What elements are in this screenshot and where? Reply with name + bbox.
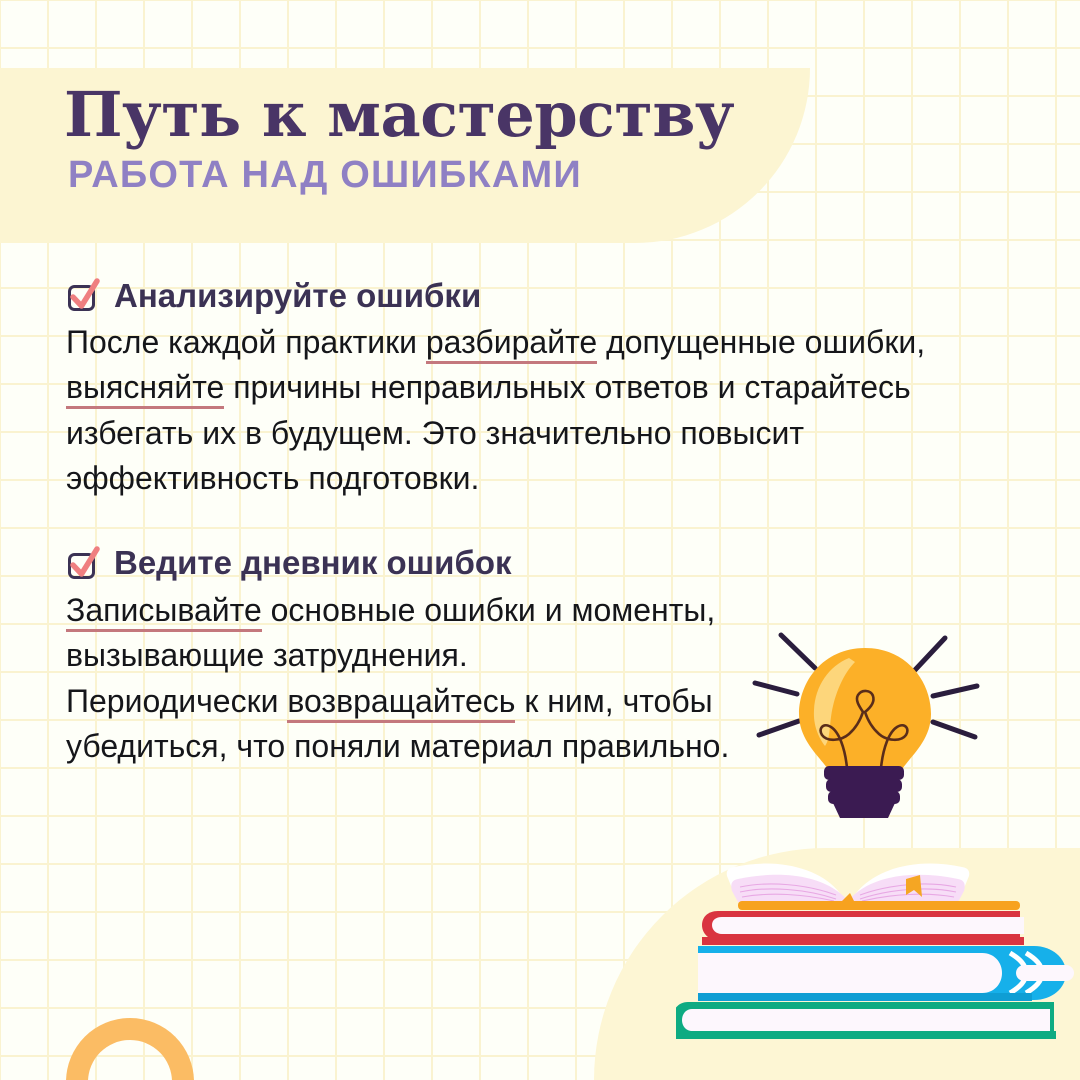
poster-canvas: Путь к мастерству РАБОТА НАД ОШИБКАМИ Ан… — [0, 0, 1080, 1080]
body-paragraph: Периодически возвращайтесь к ним, чтобы … — [66, 679, 766, 770]
body-text-part: После каждой практики — [66, 324, 426, 360]
underlined-word: выясняйте — [66, 369, 224, 409]
checkbox-checked-icon — [66, 546, 100, 580]
underlined-word: разбирайте — [426, 324, 597, 364]
header-text-block: Путь к мастерству РАБОТА НАД ОШИБКАМИ — [64, 84, 734, 194]
section-mistake-journal: Ведите дневник ошибок Записывайте основн… — [66, 546, 1080, 770]
section-heading-row: Ведите дневник ошибок — [66, 546, 1080, 580]
book-stack-illustration — [676, 845, 1080, 1045]
underlined-word: возвращайтесь — [287, 683, 515, 723]
section-analyze-mistakes: Анализируйте ошибки После каждой практик… — [66, 278, 1080, 502]
section-body: После каждой практики разбирайте допущен… — [66, 320, 1006, 502]
checkbox-checked-icon — [66, 278, 100, 312]
body-text-part: допущенные ошибки, — [597, 324, 925, 360]
book-red — [702, 901, 1024, 945]
content-area: Анализируйте ошибки После каждой практик… — [0, 278, 1080, 770]
underlined-word: Записывайте — [66, 592, 262, 632]
section-heading-row: Анализируйте ошибки — [66, 278, 1080, 312]
open-book — [727, 864, 969, 902]
book-green — [676, 1002, 1056, 1039]
orange-arch-shape — [66, 1018, 194, 1080]
body-paragraph: Записывайте основные ошибки и моменты, в… — [66, 588, 766, 679]
section-title: Ведите дневник ошибок — [114, 546, 512, 579]
book-blue — [698, 946, 1074, 1001]
page-subtitle: РАБОТА НАД ОШИБКАМИ — [68, 156, 734, 194]
page-title: Путь к мастерству — [64, 84, 734, 146]
section-body: Записывайте основные ошибки и моменты, в… — [66, 588, 766, 770]
section-title: Анализируйте ошибки — [114, 279, 481, 312]
body-text-part: Периодически — [66, 683, 287, 719]
